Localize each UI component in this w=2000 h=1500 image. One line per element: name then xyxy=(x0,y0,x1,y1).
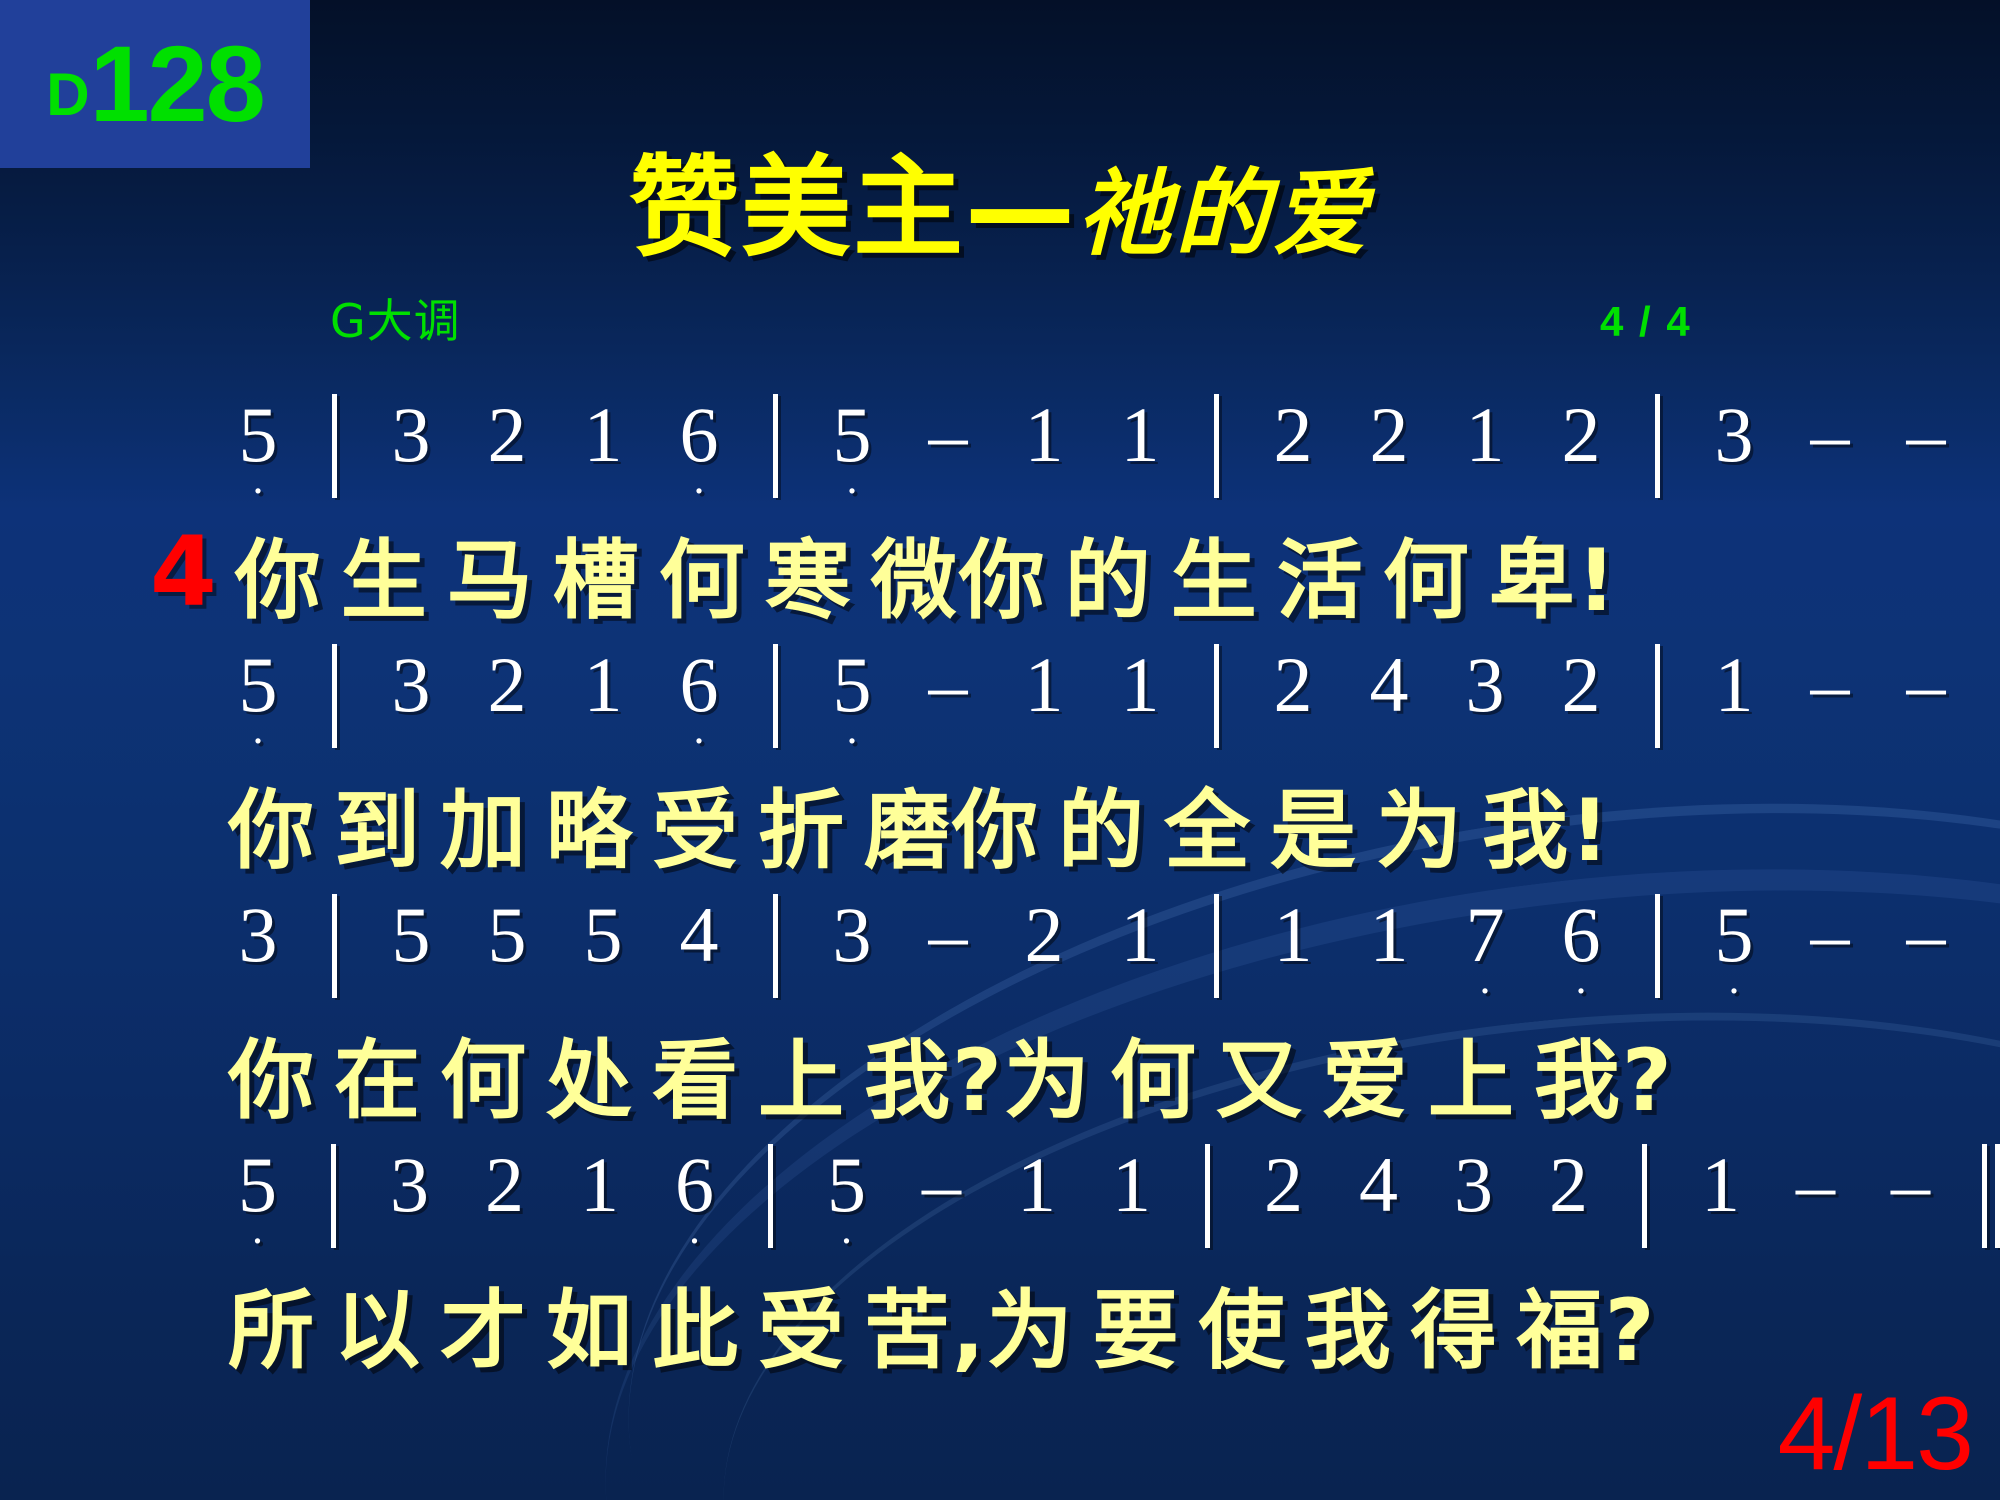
note-number: 2 xyxy=(1341,392,1437,478)
note-number: 5. xyxy=(1686,892,1782,978)
note-number: 1 xyxy=(1437,392,1533,478)
note-number: 1 xyxy=(1092,392,1188,478)
low-octave-dot: . xyxy=(651,474,747,484)
notation-row: 5.3216.5.–1124321–– xyxy=(0,642,2000,752)
lyric-syllable: 受 xyxy=(652,781,740,881)
song-number-value: 128 xyxy=(90,30,264,138)
lyric-syllable: 上 xyxy=(1428,1031,1516,1131)
lyric-text: 你生马槽何寒微你的生活何卑! xyxy=(235,510,1618,635)
lyric-syllable: 爱 xyxy=(1322,1031,1410,1131)
low-octave-dot: . xyxy=(651,724,747,734)
song-number-prefix: D xyxy=(46,65,89,125)
note-sustain-dash: – xyxy=(1878,892,1974,978)
barline xyxy=(332,394,337,498)
note-number: 3 xyxy=(1426,1142,1521,1228)
low-octave-dot: . xyxy=(1686,974,1782,984)
lyric-syllable: 我! xyxy=(1482,781,1611,881)
note-number: 2 xyxy=(1533,642,1629,728)
lyric-syllable: 如 xyxy=(546,1281,634,1381)
barline xyxy=(1205,1144,1210,1248)
note-number: 3 xyxy=(1437,642,1533,728)
low-octave-dot: . xyxy=(1533,974,1629,984)
note-number: 2 xyxy=(1245,642,1341,728)
lyric-syllable: 要 xyxy=(1093,1281,1181,1381)
lyric-syllable: 使 xyxy=(1199,1281,1287,1381)
lyric-syllable: 生 xyxy=(1171,531,1259,631)
lyric-syllable: 受 xyxy=(758,1281,846,1381)
note-number: 3 xyxy=(210,892,306,978)
note-number: 1 xyxy=(1673,1142,1768,1228)
note-number: 4 xyxy=(1331,1142,1426,1228)
lyric-syllable: 寒 xyxy=(765,531,853,631)
lyric-syllable: 何 xyxy=(440,1031,528,1131)
lyric-syllable: 所 xyxy=(228,1281,316,1381)
note-number: 2 xyxy=(459,642,555,728)
barline xyxy=(1655,394,1660,498)
note-sustain-dash: – xyxy=(900,392,996,478)
lyric-syllable: 福? xyxy=(1517,1281,1657,1381)
lyric-syllable: 上 xyxy=(758,1031,846,1131)
low-octave-dot: . xyxy=(804,474,900,484)
lyric-text: 你在何处看上我?为何又爱上我? xyxy=(228,1010,1674,1135)
lyric-syllable: 生 xyxy=(341,531,429,631)
note-number: 2 xyxy=(1533,392,1629,478)
note-sustain-dash: – xyxy=(1782,892,1878,978)
note-sustain-dash: – xyxy=(1878,642,1974,728)
barline xyxy=(773,894,778,998)
lyric-syllable: 何 xyxy=(1383,531,1471,631)
verse-number: 4 xyxy=(150,516,217,628)
lyric-syllable: 才 xyxy=(440,1281,528,1381)
low-octave-dot: . xyxy=(210,474,306,484)
note-number: 1 xyxy=(1084,1142,1179,1228)
note-number: 3 xyxy=(1686,392,1782,478)
page-counter: 4/13 xyxy=(1778,1375,1972,1494)
note-number: 4 xyxy=(1341,642,1437,728)
score-system: 5.3216.5.–1124321––所以才如此受苦,为要使我得福? xyxy=(0,1142,2000,1392)
lyric-syllable: 处 xyxy=(546,1031,634,1131)
note-number: 1 xyxy=(1245,892,1341,978)
lyric-syllable: 你 xyxy=(235,531,323,631)
barline xyxy=(332,894,337,998)
lyric-text: 所以才如此受苦,为要使我得福? xyxy=(228,1260,1657,1385)
note-sustain-dash: – xyxy=(1782,392,1878,478)
low-octave-dot: . xyxy=(210,724,306,734)
lyric-row: 4你生马槽何寒微你的生活何卑! xyxy=(0,502,2000,642)
song-number-badge: D128 xyxy=(0,0,310,168)
note-number: 1 xyxy=(996,642,1092,728)
note-number: 3 xyxy=(362,1142,457,1228)
lyric-syllable: 全 xyxy=(1164,781,1252,881)
barline xyxy=(773,644,778,748)
note-sustain-dash: – xyxy=(1782,642,1878,728)
lyric-syllable: 折 xyxy=(758,781,846,881)
note-number: 5. xyxy=(210,642,306,728)
note-number: 5 xyxy=(363,892,459,978)
note-sustain-dash: – xyxy=(900,642,996,728)
lyric-syllable: 加 xyxy=(440,781,528,881)
note-number: 3 xyxy=(363,642,459,728)
note-number: 5. xyxy=(210,1142,305,1228)
barline xyxy=(768,1144,773,1248)
title-sub: 祂的爱 xyxy=(1077,159,1371,269)
note-number: 4 xyxy=(651,892,747,978)
note-number: 1 xyxy=(552,1142,647,1228)
barline xyxy=(1642,1144,1647,1248)
lyric-syllable: 的 xyxy=(1058,781,1146,881)
lyric-syllable: 我?为 xyxy=(864,1031,1092,1131)
lyric-syllable: 活 xyxy=(1277,531,1365,631)
notation-row: 5.3216.5.–1124321–– xyxy=(0,1142,2000,1252)
lyric-syllable: 何 xyxy=(1110,1031,1198,1131)
lyric-syllable: 马 xyxy=(447,531,535,631)
note-number: 2 xyxy=(1236,1142,1331,1228)
low-octave-dot: . xyxy=(799,1224,894,1234)
score-system: 5.3216.5.–1124321––你到加略受折磨你的全是为我! xyxy=(0,642,2000,892)
final-double-barline xyxy=(1982,1144,2000,1248)
note-number: 1 xyxy=(1092,642,1188,728)
lyric-syllable: 又 xyxy=(1216,1031,1304,1131)
lyric-row: 你在何处看上我?为何又爱上我? xyxy=(0,1002,2000,1142)
key-signature-label: G大调 xyxy=(330,285,461,351)
note-number: 5 xyxy=(555,892,651,978)
lyric-syllable: 卑! xyxy=(1489,531,1618,631)
note-sustain-dash: – xyxy=(1768,1142,1863,1228)
note-number: 1 xyxy=(555,392,651,478)
title-main: 赞美主— xyxy=(629,144,1077,272)
lyric-syllable: 为 xyxy=(1376,781,1464,881)
note-sustain-dash: – xyxy=(894,1142,989,1228)
note-number: 2 xyxy=(457,1142,552,1228)
notation-row: 5.3216.5.–1122123–– xyxy=(0,392,2000,502)
lyric-syllable: 何 xyxy=(659,531,747,631)
low-octave-dot: . xyxy=(210,1224,305,1234)
note-number: 6. xyxy=(647,1142,742,1228)
note-number: 1 xyxy=(1341,892,1437,978)
note-number: 2 xyxy=(1521,1142,1616,1228)
note-number: 3 xyxy=(804,892,900,978)
note-number: 7. xyxy=(1437,892,1533,978)
lyric-syllable: 此 xyxy=(652,1281,740,1381)
notation-row: 355543–21117.6.5.–– xyxy=(0,892,2000,1002)
note-number: 1 xyxy=(1686,642,1782,728)
lyric-syllable: 苦,为 xyxy=(864,1281,1075,1381)
low-octave-dot: . xyxy=(804,724,900,734)
low-octave-dot: . xyxy=(1437,974,1533,984)
note-number: 5. xyxy=(804,642,900,728)
barline xyxy=(1214,894,1219,998)
note-number: 6. xyxy=(651,392,747,478)
barline xyxy=(1214,394,1219,498)
lyric-syllable: 得 xyxy=(1411,1281,1499,1381)
barline xyxy=(332,644,337,748)
note-number: 5. xyxy=(210,392,306,478)
barline xyxy=(1655,644,1660,748)
lyric-syllable: 我? xyxy=(1534,1031,1674,1131)
note-number: 1 xyxy=(996,392,1092,478)
note-number: 1 xyxy=(555,642,651,728)
note-number: 3 xyxy=(363,392,459,478)
note-number: 1 xyxy=(989,1142,1084,1228)
score-system: 355543–21117.6.5.––你在何处看上我?为何又爱上我? xyxy=(0,892,2000,1142)
lyric-syllable: 到 xyxy=(334,781,422,881)
note-sustain-dash: – xyxy=(900,892,996,978)
barline xyxy=(773,394,778,498)
barline xyxy=(1655,894,1660,998)
note-number: 6. xyxy=(651,642,747,728)
time-signature-label: 4 / 4 xyxy=(1600,298,1692,346)
lyric-syllable: 你 xyxy=(228,1031,316,1131)
slide-canvas: D128 赞美主—祂的爱 G大调 4 / 4 5.3216.5.–1122123… xyxy=(0,0,2000,1500)
lyric-syllable: 在 xyxy=(334,1031,422,1131)
note-sustain-dash: – xyxy=(1878,392,1974,478)
lyric-syllable: 看 xyxy=(652,1031,740,1131)
barline xyxy=(331,1144,336,1248)
note-sustain-dash: – xyxy=(1863,1142,1958,1228)
musical-score: 5.3216.5.–1122123––4你生马槽何寒微你的生活何卑!5.3216… xyxy=(0,392,2000,1392)
note-number: 6. xyxy=(1533,892,1629,978)
lyric-syllable: 的 xyxy=(1065,531,1153,631)
lyric-row: 你到加略受折磨你的全是为我! xyxy=(0,752,2000,892)
note-number: 2 xyxy=(1245,392,1341,478)
lyric-syllable: 我 xyxy=(1305,1281,1393,1381)
low-octave-dot: . xyxy=(647,1224,742,1234)
lyric-row: 所以才如此受苦,为要使我得福? xyxy=(0,1252,2000,1392)
lyric-syllable: 略 xyxy=(546,781,634,881)
lyric-syllable: 你 xyxy=(228,781,316,881)
note-number: 2 xyxy=(996,892,1092,978)
note-number: 5. xyxy=(804,392,900,478)
lyric-syllable: 磨你 xyxy=(864,781,1040,881)
barline xyxy=(1214,644,1219,748)
lyric-syllable: 槽 xyxy=(553,531,641,631)
lyric-text: 你到加略受折磨你的全是为我! xyxy=(228,760,1611,885)
note-number: 2 xyxy=(459,392,555,478)
lyric-syllable: 微你 xyxy=(871,531,1047,631)
note-number: 1 xyxy=(1092,892,1188,978)
note-number: 5 xyxy=(459,892,555,978)
score-system: 5.3216.5.–1122123––4你生马槽何寒微你的生活何卑! xyxy=(0,392,2000,642)
lyric-syllable: 是 xyxy=(1270,781,1358,881)
note-number: 5. xyxy=(799,1142,894,1228)
lyric-syllable: 以 xyxy=(334,1281,422,1381)
